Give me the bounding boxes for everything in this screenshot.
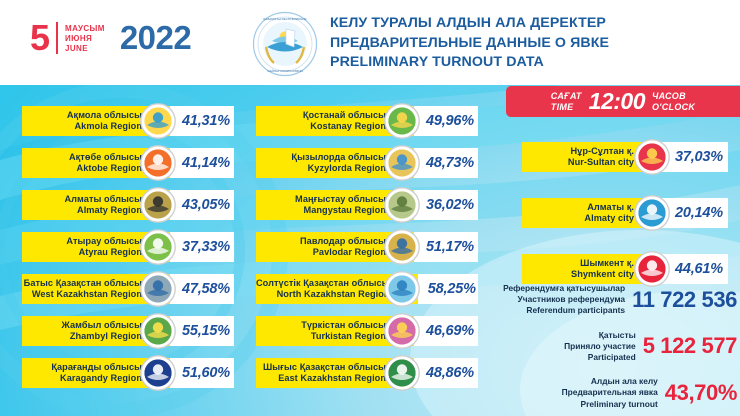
region-name-en: Turkistan Region bbox=[311, 331, 386, 343]
region-name-kk: Маңғыстау облысы bbox=[295, 194, 386, 206]
summary-stat: Референдумға қатысушыларУчастников рефер… bbox=[505, 283, 737, 317]
time-banner-left-labels: САҒАТ TIME bbox=[551, 91, 582, 112]
page-title-en: PRELIMINARY TURNOUT DATA bbox=[330, 53, 609, 73]
region-turnout-value-cell: 41,31% bbox=[170, 106, 234, 136]
region-turnout-value: 37,03% bbox=[675, 149, 723, 165]
time-unit-en: O'CLOCK bbox=[652, 102, 695, 113]
region-turnout-value: 36,02% bbox=[426, 197, 474, 213]
region-turnout-value-cell: 41,14% bbox=[170, 148, 234, 178]
akmola-region-emblem-icon bbox=[140, 103, 176, 139]
region-row: Шымкент қ.Shymkent city44,61% bbox=[522, 254, 728, 284]
region-turnout-value: 41,31% bbox=[182, 113, 230, 129]
region-row: Ақтөбе облысыAktobe Region41,14% bbox=[22, 148, 234, 178]
summary-stat-labels: ҚатыстыПриняло участиеParticipated bbox=[564, 330, 636, 364]
summary-stat: Алдын ала келуПредварительная явкаPrelim… bbox=[505, 376, 737, 410]
west-kazakhstan-region-emblem-icon bbox=[140, 271, 176, 307]
region-name-kk: Қызылорда облысы bbox=[291, 152, 386, 164]
almaty-region-emblem-icon bbox=[140, 187, 176, 223]
region-name-kk: Ақтөбе облысы bbox=[69, 152, 142, 164]
time-value: 12:00 bbox=[589, 88, 645, 115]
mangystau-region-emblem-icon bbox=[384, 187, 420, 223]
region-column-1: Ақмола облысыAkmola Region41,31% Ақтөбе … bbox=[22, 106, 234, 400]
region-row: Солтүстік Қазақстан облысыNorth Kazakhst… bbox=[256, 274, 478, 304]
summary-label-ru: Участников референдума bbox=[518, 294, 626, 305]
region-name-en: Shymkent city bbox=[571, 269, 634, 281]
time-label-kk: САҒАТ bbox=[551, 91, 582, 102]
summary-label-kk: Референдумға қатысушылар bbox=[503, 283, 625, 294]
region-turnout-value: 58,25% bbox=[428, 281, 476, 297]
region-turnout-value: 20,14% bbox=[675, 205, 723, 221]
date-divider bbox=[56, 22, 58, 54]
region-turnout-value: 49,96% bbox=[426, 113, 474, 129]
region-name-en: Kyzylorda Region bbox=[308, 163, 386, 175]
region-row: Қарағанды облысыKaragandy Region51,60% bbox=[22, 358, 234, 388]
region-row: Алматы қ.Almaty city20,14% bbox=[522, 198, 728, 228]
region-name-kk: Солтүстік Қазақстан облысы bbox=[256, 278, 390, 290]
region-turnout-value: 43,05% bbox=[182, 197, 230, 213]
region-name-kk: Қарағанды облысы bbox=[51, 362, 142, 374]
region-row: Шығыс Қазақстан облысыEast Kazakhstan Re… bbox=[256, 358, 478, 388]
region-turnout-value-cell: 55,15% bbox=[170, 316, 234, 346]
region-turnout-value-cell: 20,14% bbox=[662, 198, 728, 228]
summary-label-en: Participated bbox=[588, 352, 636, 363]
aktobe-region-emblem-icon bbox=[140, 145, 176, 181]
pavlodar-region-emblem-icon bbox=[384, 229, 420, 265]
region-name-en: Akmola Region bbox=[74, 121, 142, 133]
east-kazakhstan-region-emblem-icon bbox=[384, 355, 420, 391]
date-block: 5 МАУСЫМ ИЮНЯ JUNE 2022 bbox=[30, 21, 191, 55]
shymkent-city-emblem-icon bbox=[634, 251, 670, 287]
region-turnout-value-cell: 58,25% bbox=[418, 274, 478, 304]
region-turnout-value-cell: 47,58% bbox=[170, 274, 234, 304]
region-name-en: Kostanay Region bbox=[310, 121, 386, 133]
region-turnout-value: 41,14% bbox=[182, 155, 230, 171]
time-banner: САҒАТ TIME 12:00 ЧАСОВ O'CLOCK bbox=[506, 86, 740, 117]
date-month-en: JUNE bbox=[65, 44, 105, 53]
region-name-kk: Шымкент қ. bbox=[580, 258, 634, 270]
region-row: Түркістан облысыTurkistan Region46,69% bbox=[256, 316, 478, 346]
region-row: Атырау облысыAtyrau Region37,33% bbox=[22, 232, 234, 262]
svg-text:САЙЛАУ КОМИССИЯСЫ: САЙЛАУ КОМИССИЯСЫ bbox=[267, 69, 302, 73]
time-unit-ru: ЧАСОВ bbox=[652, 91, 695, 102]
region-turnout-value: 44,61% bbox=[675, 261, 723, 277]
summary-statistics: Референдумға қатысушыларУчастников рефер… bbox=[505, 283, 737, 416]
summary-label-kk: Қатысты bbox=[599, 330, 636, 341]
region-row: Қызылорда облысыKyzylorda Region48,73% bbox=[256, 148, 478, 178]
region-name-en: West Kazakhstan Region bbox=[32, 289, 142, 301]
region-turnout-value-cell: 49,96% bbox=[414, 106, 478, 136]
region-turnout-value-cell: 51,60% bbox=[170, 358, 234, 388]
region-row: Қостанай облысыKostanay Region49,96% bbox=[256, 106, 478, 136]
region-turnout-value: 48,73% bbox=[426, 155, 474, 171]
region-turnout-value-cell: 48,86% bbox=[414, 358, 478, 388]
region-name-en: Nur-Sultan city bbox=[568, 157, 634, 169]
region-row: Ақмола облысыAkmola Region41,31% bbox=[22, 106, 234, 136]
svg-text:ҚАЗАҚСТАН РЕСПУБЛИКАСЫ: ҚАЗАҚСТАН РЕСПУБЛИКАСЫ bbox=[264, 17, 307, 21]
region-row: Алматы облысыAlmaty Region43,05% bbox=[22, 190, 234, 220]
region-name-kk: Жамбыл облысы bbox=[62, 320, 142, 332]
region-name-kk: Ақмола облысы bbox=[67, 110, 142, 122]
page-title-kk: КЕЛУ ТУРАЛЫ АЛДЫН АЛА ДЕРЕКТЕР bbox=[330, 14, 609, 34]
kyzylorda-region-emblem-icon bbox=[384, 145, 420, 181]
page-title-ru: ПРЕДВАРИТЕЛЬНЫЕ ДАННЫЕ О ЯВКЕ bbox=[330, 34, 609, 54]
region-turnout-value: 51,60% bbox=[182, 365, 230, 381]
region-name-kk: Шығыс Қазақстан облысы bbox=[263, 362, 386, 374]
region-name-en: Aktobe Region bbox=[77, 163, 142, 175]
summary-label-en: Referendum participants bbox=[526, 305, 625, 316]
summary-stat-labels: Референдумға қатысушыларУчастников рефер… bbox=[503, 283, 625, 317]
karagandy-region-emblem-icon bbox=[140, 355, 176, 391]
region-row: Нұр-Сұлтан қ.Nur-Sultan city37,03% bbox=[522, 142, 728, 172]
region-name-en: Zhambyl Region bbox=[70, 331, 142, 343]
summary-stat-value: 43,70% bbox=[665, 380, 737, 406]
region-name-kk: Алматы қ. bbox=[587, 202, 634, 214]
region-turnout-value-cell: 44,61% bbox=[662, 254, 728, 284]
date-day: 5 bbox=[30, 21, 49, 55]
summary-label-ru: Приняло участие bbox=[564, 341, 636, 352]
region-name-kk: Атырау облысы bbox=[66, 236, 142, 248]
region-name-en: Atyrau Region bbox=[79, 247, 142, 259]
summary-label-en: Preliminary turnout bbox=[581, 399, 658, 410]
zhambyl-region-emblem-icon bbox=[140, 313, 176, 349]
region-name-en: East Kazakhstan Region bbox=[278, 373, 386, 385]
atyrau-region-emblem-icon bbox=[140, 229, 176, 265]
region-turnout-value-cell: 37,03% bbox=[662, 142, 728, 172]
region-turnout-value: 51,17% bbox=[426, 239, 474, 255]
region-name-en: Almaty Region bbox=[77, 205, 142, 217]
north-kazakhstan-region-emblem-icon bbox=[384, 271, 420, 307]
region-turnout-value-cell: 43,05% bbox=[170, 190, 234, 220]
region-row: Жамбыл облысыZhambyl Region55,15% bbox=[22, 316, 234, 346]
region-turnout-value: 46,69% bbox=[426, 323, 474, 339]
infographic-root: 5 МАУСЫМ ИЮНЯ JUNE 2022 ҚАЗАҚСТАН РЕСПУБ… bbox=[0, 0, 740, 416]
date-month-names: МАУСЫМ ИЮНЯ JUNE bbox=[65, 24, 105, 53]
region-turnout-value-cell: 37,33% bbox=[170, 232, 234, 262]
almaty-city-emblem-icon bbox=[634, 195, 670, 231]
region-turnout-value: 55,15% bbox=[182, 323, 230, 339]
kazakhstan-cec-emblem-icon: ҚАЗАҚСТАН РЕСПУБЛИКАСЫ САЙЛАУ КОМИССИЯСЫ bbox=[252, 11, 318, 77]
summary-label-kk: Алдын ала келу bbox=[591, 376, 658, 387]
region-turnout-value-cell: 46,69% bbox=[414, 316, 478, 346]
region-turnout-value: 37,33% bbox=[182, 239, 230, 255]
region-name-kk: Алматы облысы bbox=[64, 194, 142, 206]
turkistan-region-emblem-icon bbox=[384, 313, 420, 349]
date-month-ru: ИЮНЯ bbox=[65, 34, 105, 43]
region-column-2: Қостанай облысыKostanay Region49,96% Қыз… bbox=[256, 106, 478, 400]
region-turnout-value-cell: 36,02% bbox=[414, 190, 478, 220]
header-bar: 5 МАУСЫМ ИЮНЯ JUNE 2022 ҚАЗАҚСТАН РЕСПУБ… bbox=[0, 0, 740, 85]
header-title-group: КЕЛУ ТУРАЛЫ АЛДЫН АЛА ДЕРЕКТЕР ПРЕДВАРИТ… bbox=[330, 14, 609, 73]
region-row: Маңғыстау облысыMangystau Region36,02% bbox=[256, 190, 478, 220]
region-name-kk: Нұр-Сұлтан қ. bbox=[570, 146, 634, 158]
summary-label-ru: Предварительная явка bbox=[562, 387, 658, 398]
summary-stat-labels: Алдын ала келуПредварительная явкаPrelim… bbox=[562, 376, 658, 410]
region-turnout-value-cell: 48,73% bbox=[414, 148, 478, 178]
region-turnout-value: 48,86% bbox=[426, 365, 474, 381]
region-name-kk: Қостанай облысы bbox=[303, 110, 386, 122]
region-name-en: North Kazakhstan Region bbox=[277, 289, 390, 301]
time-banner-right-labels: ЧАСОВ O'CLOCK bbox=[652, 91, 695, 112]
date-year: 2022 bbox=[120, 21, 191, 55]
region-row: Павлодар облысыPavlodar Region51,17% bbox=[256, 232, 478, 262]
nur-sultan-city-emblem-icon bbox=[634, 139, 670, 175]
time-label-en: TIME bbox=[551, 102, 582, 113]
region-name-en: Almaty city bbox=[584, 213, 634, 225]
kostanay-region-emblem-icon bbox=[384, 103, 420, 139]
region-name-en: Pavlodar Region bbox=[313, 247, 386, 259]
region-row: Батыс Қазақстан облысыWest Kazakhstan Re… bbox=[22, 274, 234, 304]
summary-stat: ҚатыстыПриняло участиеParticipated5 122 … bbox=[505, 330, 737, 364]
region-name-en: Karagandy Region bbox=[60, 373, 142, 385]
region-turnout-value-cell: 51,17% bbox=[414, 232, 478, 262]
region-name-en: Mangystau Region bbox=[304, 205, 386, 217]
region-name-kk: Павлодар облысы bbox=[300, 236, 386, 248]
date-month-kk: МАУСЫМ bbox=[65, 24, 105, 33]
summary-stat-value: 11 722 536 bbox=[632, 287, 737, 313]
region-turnout-value: 47,58% bbox=[182, 281, 230, 297]
region-name-kk: Түркістан облысы bbox=[301, 320, 386, 332]
summary-stat-value: 5 122 577 bbox=[643, 333, 737, 359]
region-name-kk: Батыс Қазақстан облысы bbox=[24, 278, 142, 290]
